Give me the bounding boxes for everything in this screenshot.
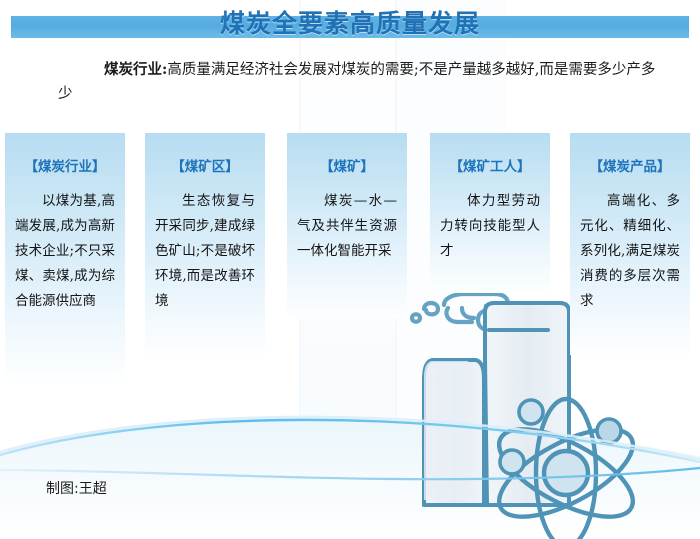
card-mine-workers[interactable]: 【煤矿工人】 体力型劳动力转向技能型人才 bbox=[430, 133, 550, 293]
page-title: 煤炭全要素高质量发展 bbox=[0, 7, 700, 41]
card-mining-area[interactable]: 【煤矿区】 生态恢复与开采同步,建成绿色矿山;不是破坏环境,而是改善环境 bbox=[145, 133, 265, 355]
card-body: 生态恢复与开采同步,建成绿色矿山;不是破坏环境,而是改善环境 bbox=[145, 175, 265, 314]
card-coal-mine[interactable]: 【煤矿】 煤炭—水—气及共伴生资源一体化智能开采 bbox=[287, 133, 407, 319]
card-body: 煤炭—水—气及共伴生资源一体化智能开采 bbox=[287, 175, 407, 264]
title-banner: 煤炭全要素高质量发展 bbox=[0, 8, 700, 44]
atom-icon bbox=[487, 399, 646, 539]
card-title: 【煤炭产品】 bbox=[570, 133, 690, 175]
card-title: 【煤矿工人】 bbox=[430, 133, 550, 175]
subtitle-paragraph: 煤炭行业:高质量满足经济社会发展对煤炭的需要;不是产量越多越好,而是需要多少产多… bbox=[58, 58, 658, 106]
card-body: 高端化、多元化、精细化、系列化,满足煤炭消费的多层次需求 bbox=[570, 175, 690, 314]
card-title: 【煤矿】 bbox=[287, 133, 407, 175]
card-title: 【煤矿区】 bbox=[145, 133, 265, 175]
smoke-curl-icon bbox=[412, 294, 508, 330]
factory-towers-icon bbox=[424, 303, 569, 505]
credit-line: 制图:王超 bbox=[46, 478, 107, 498]
card-title: 【煤炭行业】 bbox=[5, 133, 125, 175]
card-coal-products[interactable]: 【煤炭产品】 高端化、多元化、精细化、系列化,满足煤炭消费的多层次需求 bbox=[570, 133, 690, 355]
card-body: 体力型劳动力转向技能型人才 bbox=[430, 175, 550, 264]
card-body: 以煤为基,高端发展,成为高新技术企业;不只采煤、卖煤,成为综合能源供应商 bbox=[5, 175, 125, 314]
subtitle-lead: 煤炭行业: bbox=[58, 61, 167, 78]
card-coal-industry[interactable]: 【煤炭行业】 以煤为基,高端发展,成为高新技术企业;不只采煤、卖煤,成为综合能源… bbox=[5, 133, 125, 381]
infographic-page: 煤炭全要素高质量发展 煤炭行业:高质量满足经济社会发展对煤炭的需要;不是产量越多… bbox=[0, 0, 700, 539]
